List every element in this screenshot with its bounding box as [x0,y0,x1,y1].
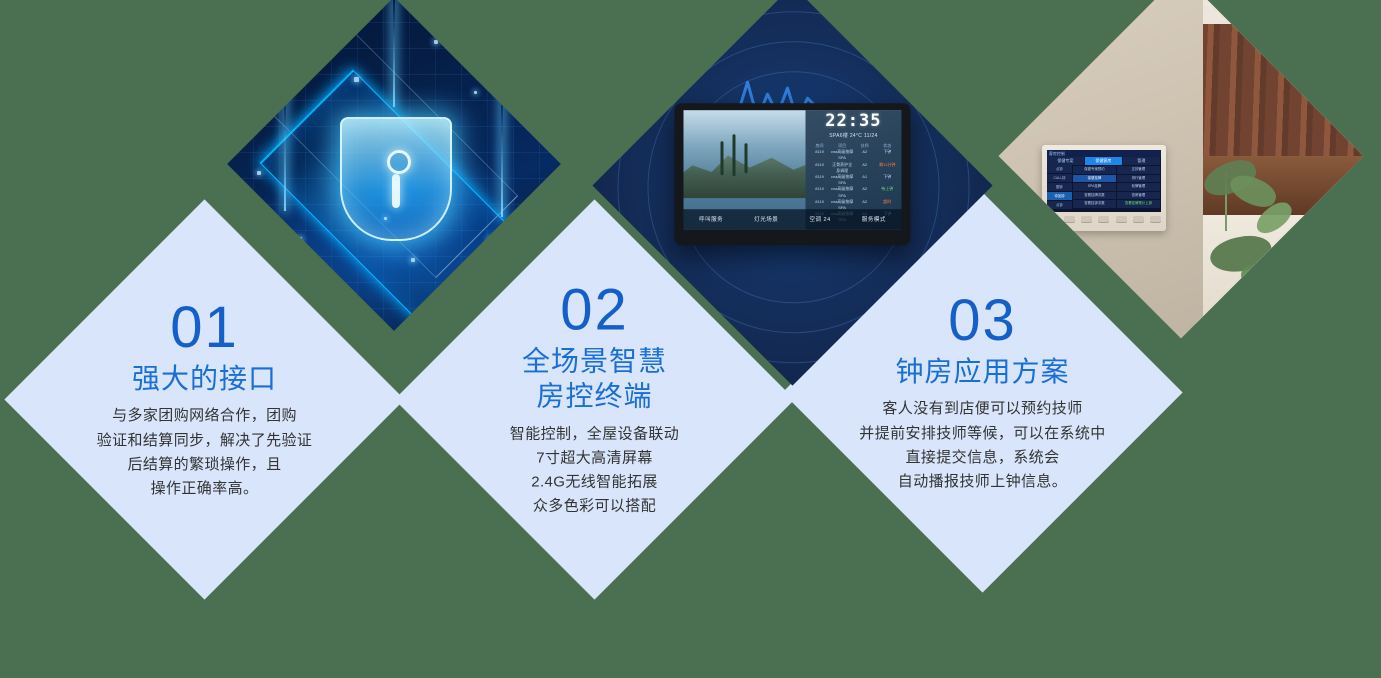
desc-line: 智能控制，全屋设备联动 [435,421,755,445]
panel-list-item-4[interactable]: SPA挂牌 [1073,183,1116,191]
infographic-stage: 01 强大的接口 与多家团购网络合作，团购 验证和结算同步，解决了先验证 后结算… [0,0,1381,603]
panel-side-item-4[interactable]: 点钟 [1047,201,1072,209]
panel-button[interactable] [1047,216,1058,223]
panel-side-menu[interactable]: 点钟 CALL钟 圈钟 待加钟 点钟 [1047,165,1072,209]
td: 待上钟 [876,186,899,198]
panel-list-item-8[interactable]: 查看挂钟次数 [1073,200,1116,208]
feature-card-03-description: 客人没有到店便可以预约技师 并提前安排技师等候，可以在系统中 直接提交信息，系统… [813,397,1153,494]
panel-tab-0[interactable]: 保健专案 [1047,157,1084,165]
td: A1 [853,173,876,185]
wood-screen-wall [1196,24,1364,178]
panel-button[interactable] [1133,216,1144,223]
feature-card-03-content: 03 钟房应用方案 客人没有到店便可以预约技师 并提前安排技师等候，可以在系统中… [813,291,1153,493]
td: 正骨养护全身调理 [831,161,854,173]
panel-list-item-9[interactable]: 查看挂牌预计上钟 [1117,200,1160,208]
title-line: 全场景智慧 [435,343,755,378]
panel-button[interactable] [1064,216,1075,223]
desc-line: 众多色彩可以搭配 [435,494,755,518]
table-row: 8119 正骨养护全身调理 A2 剩11分钟 [808,161,898,173]
panel-list-item-0[interactable]: 保健专案预约 [1073,166,1116,174]
td: A2 [853,186,876,198]
panel-option-list[interactable]: 保健专案预约 正钟管理 保健挂牌 排行管理 SPA挂牌 轮牌管理 查看挂牌次数 … [1072,165,1161,209]
table-row: 8119 спа高级按摩SPA A2 下钟 [808,149,898,161]
table-header-row: 房间 项目 技师 状态 [808,143,898,149]
tablet-button-service[interactable]: 服务模式 [862,215,886,223]
desc-line: 与多家团购网络合作，团购 [45,404,365,428]
panel-list-item-1[interactable]: 正钟管理 [1117,166,1160,174]
panel-tab-2[interactable]: 管理 [1123,157,1160,165]
panel-screen[interactable]: 客房控制 保健专案 保健客房 管理 点钟 CALL钟 圈钟 待加钟 点钟 [1047,150,1161,212]
panel-list-item-5[interactable]: 轮牌管理 [1117,183,1160,191]
th: 房间 [808,143,831,149]
feature-card-02-title: 全场景智慧 房控终端 [435,343,755,414]
panel-list-item-7[interactable]: 查房管理 [1117,192,1160,200]
title-line: 强大的接口 [45,360,365,395]
tablet-status-line: SPA6楼 24°C 11/24 [808,132,898,139]
panel-side-item-1[interactable]: CALL钟 [1047,174,1072,182]
panel-side-item-0[interactable]: 点钟 [1047,165,1072,173]
tablet-device[interactable]: 22:35 SPA6楼 24°C 11/24 房间 项目 技师 状态 8119 [675,103,911,245]
desc-line: 验证和结算同步，解决了先验证 [45,428,365,452]
desc-line: 7寸超大高清屏幕 [435,445,755,469]
tree-shape [744,143,747,173]
title-line: 房控终端 [435,378,755,413]
feature-card-01-content: 01 强大的接口 与多家团购网络合作，团购 验证和结算同步，解决了先验证 后结算… [44,298,364,500]
td: A2 [853,161,876,173]
desc-line: 自动播报技师上钟信息。 [813,469,1153,493]
td: спа高级按摩SPA [831,186,854,198]
tree-shape [720,140,723,174]
desc-line: 操作正确率高。 [44,476,364,500]
td: 8119 [808,173,831,185]
desc-line: 并提前安排技师等候，可以在系统中 [813,421,1153,445]
floor-area [1196,215,1364,339]
tablet-clock: 22:35 [808,112,898,129]
panel-header: 客房控制 [1047,150,1161,157]
panel-button[interactable] [1116,216,1127,223]
feature-card-01-number: 01 [45,298,365,356]
td: спа高级按摩SPA [831,173,854,185]
feature-card-01-description: 与多家团购网络合作，团购 验证和结算同步，解决了先验证 后结算的繁琐操作，且 操… [44,404,364,501]
desc-line: 2.4G无线智能拓展 [435,470,755,494]
td: 8119 [808,161,831,173]
panel-side-item-3[interactable]: 待加钟 [1047,192,1072,200]
table-row: 8119 спа高级按摩SPA A1 下钟 [808,173,898,185]
panel-list-item-6[interactable]: 查看挂牌次数 [1073,192,1116,200]
panel-list-item-2[interactable]: 保健挂牌 [1073,175,1116,183]
tablet-button-call[interactable]: 呼叫服务 [699,215,723,223]
td: 剩11分钟 [876,161,899,173]
td: 8119 [808,186,831,198]
feature-card-02-description: 智能控制，全屋设备联动 7寸超大高清屏幕 2.4G无线智能拓展 众多色彩可以搭配 [435,421,755,518]
panel-list-item-3[interactable]: 排行管理 [1117,175,1160,183]
feature-card-03-title: 钟房应用方案 [813,353,1153,388]
wall-control-panel[interactable]: 客房控制 保健专案 保健客房 管理 点钟 CALL钟 圈钟 待加钟 点钟 [1042,145,1166,231]
panel-body: 点钟 CALL钟 圈钟 待加钟 点钟 保健专案预约 正钟管理 保健挂牌 排行管理… [1047,165,1161,209]
td: 8119 [808,149,831,161]
tablet-bottom-bar[interactable]: 呼叫服务 灯光场景 空调 24 服务模式 [684,209,902,229]
desc-line: 客人没有到店便可以预约技师 [813,397,1153,421]
panel-hardware-buttons[interactable] [1047,216,1161,223]
tree-shape [732,133,735,175]
tablet-button-ac[interactable]: 空调 24 [810,215,831,223]
panel-button[interactable] [1098,216,1109,223]
desc-line: 后结算的繁琐操作，且 [45,452,365,476]
th: 项目 [831,143,854,149]
tablet-button-light[interactable]: 灯光场景 [754,215,778,223]
panel-tabs[interactable]: 保健专案 保健客房 管理 [1047,157,1161,165]
panel-tab-1[interactable]: 保健客房 [1085,157,1122,165]
tablet-brand-logo [675,230,911,243]
th: 状态 [876,143,899,149]
td: спа高级按摩SPA [831,149,854,161]
th: 技师 [853,143,876,149]
tablet-screen[interactable]: 22:35 SPA6楼 24°C 11/24 房间 项目 技师 状态 8119 [684,110,902,229]
feature-card-02-content: 02 全场景智慧 房控终端 智能控制，全屋设备联动 7寸超大高清屏幕 2.4G无… [435,281,755,519]
desc-line: 直接提交信息，系统会 [813,445,1153,469]
td: 下钟 [876,149,899,161]
panel-button[interactable] [1081,216,1092,223]
td: 下钟 [876,173,899,185]
td: A2 [853,149,876,161]
panel-side-item-2[interactable]: 圈钟 [1047,183,1072,191]
panel-button[interactable] [1150,216,1161,223]
table-row: 8119 спа高级按摩SPA A2 待上钟 [808,186,898,198]
title-line: 钟房应用方案 [813,353,1153,388]
feature-card-01-title: 强大的接口 [45,360,365,395]
